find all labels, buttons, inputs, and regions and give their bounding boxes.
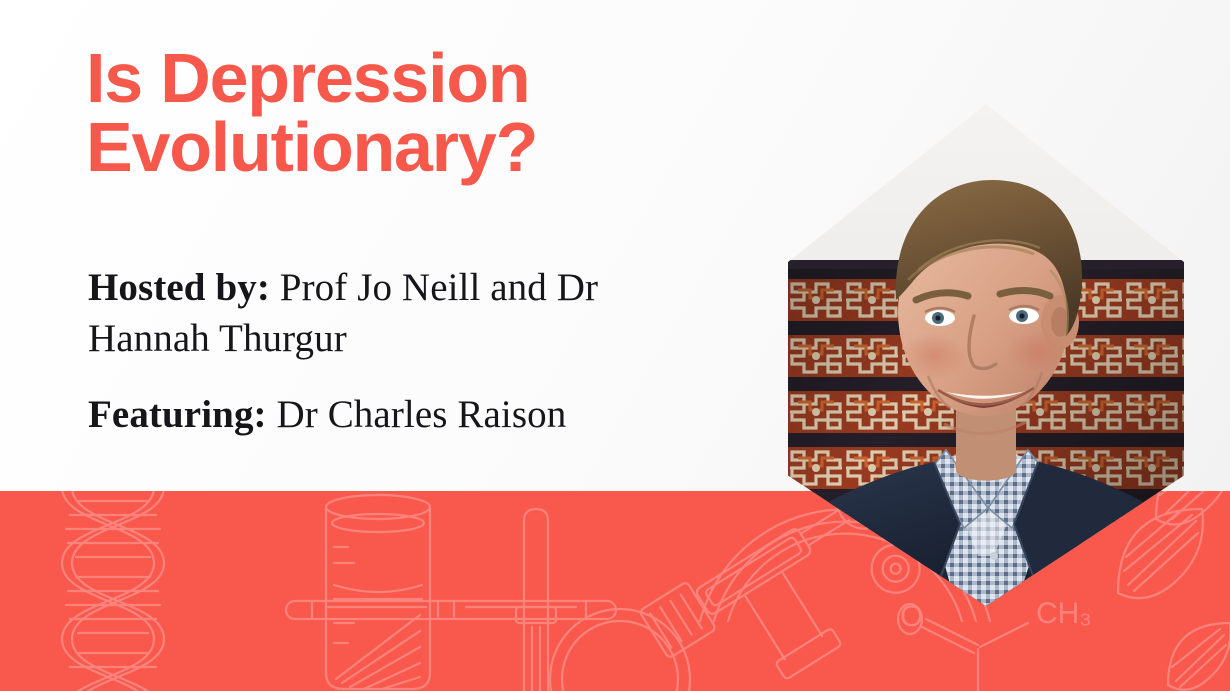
flask-icon-2 — [1168, 623, 1230, 690]
beaker-icon — [326, 495, 430, 689]
page-title: Is Depression Evolutionary? — [86, 44, 746, 181]
test-tube-rod-icon — [286, 601, 616, 619]
featuring-names: Dr Charles Raison — [267, 393, 567, 436]
molecule-label-oxygen: O — [900, 600, 923, 633]
credits-block: Hosted by: Prof Jo Neill and Dr Hannah T… — [88, 262, 728, 440]
flask-icon-3 — [1156, 491, 1230, 524]
hosted-by-label: Hosted by: — [88, 266, 270, 309]
featuring-label: Featuring: — [88, 393, 267, 436]
molecule-label-methyl: CH₃ — [1036, 597, 1092, 630]
dna-helix-icon — [62, 491, 164, 691]
hosted-by-line: Hosted by: Prof Jo Neill and Dr Hannah T… — [88, 262, 728, 365]
featuring-line: Featuring: Dr Charles Raison — [88, 389, 728, 440]
poster-canvas: Is Depression Evolutionary? Hosted by: P… — [0, 0, 1230, 691]
